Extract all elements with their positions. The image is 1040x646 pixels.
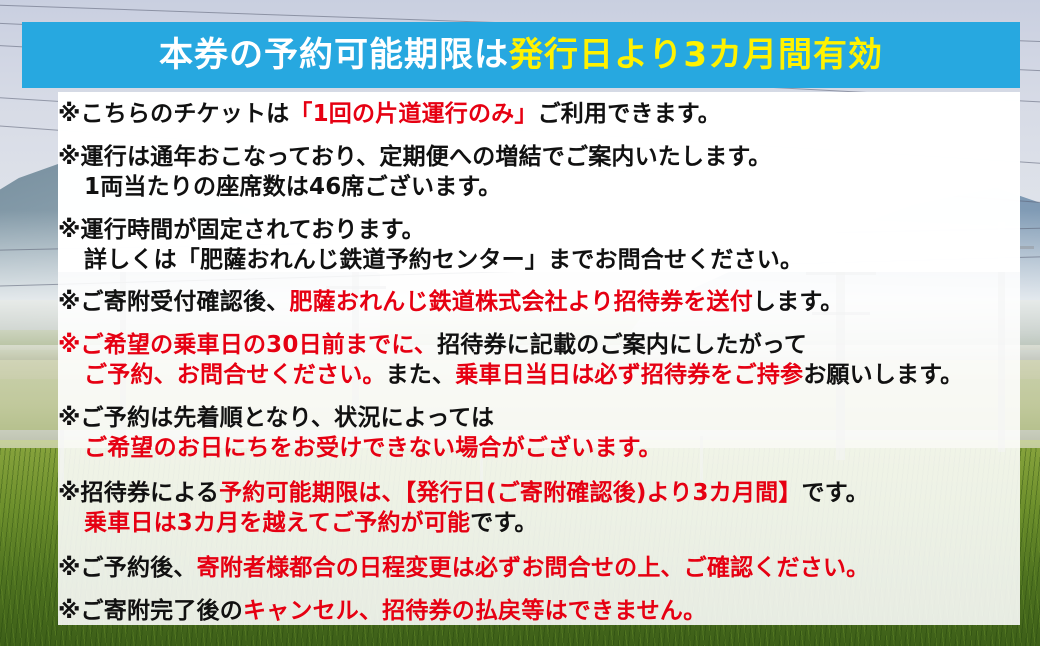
note-2-l2-seg1-black: 1両当たりの座席数は46席ございます。	[84, 174, 502, 200]
note-spacer	[58, 130, 1020, 143]
note-spacer	[58, 584, 1020, 597]
promo-notice-card: 本券の予約可能期限は発行日より3カ月間有効 ※こちらのチケットは「1回の片道運行…	[0, 0, 1040, 646]
note-1-l1-seg3-black: ご利用できます。	[538, 101, 721, 127]
headline-text: 本券の予約可能期限は発行日より3カ月間有効	[159, 38, 883, 72]
note-3-l1-seg1-black: ※運行時間が固定されております。	[58, 217, 425, 243]
note-spacer	[58, 539, 1020, 554]
note-5-l2-seg3-red: 乗車日当日は必ず招待券をご持参	[455, 362, 803, 388]
note-2-line-1: ※運行は通年おこなっており、定期便への増結でご案内いたします。	[58, 143, 1020, 173]
note-8-line-1: ※ご予約後、寄附者様都合の日程変更は必ずお問合せの上、ご確認ください。	[58, 554, 1020, 584]
note-5-l1-seg1-red: ※ご希望の乗車日の30日前までに、	[58, 332, 437, 358]
note-2-line-2: 1両当たりの座席数は46席ございます。	[58, 173, 1020, 203]
note-9-l1-seg2-red: キャンセル、招待券の払戻等はできません。	[243, 598, 706, 624]
headline-yellow-part: 発行日より3カ月間有効	[509, 35, 883, 75]
note-spacer	[58, 391, 1020, 404]
note-7-line-1: ※招待券による予約可能期限は、【発行日(ご寄附確認後)より3カ月間】です。	[58, 479, 1020, 509]
note-1-line-1: ※こちらのチケットは「1回の片道運行のみ」ご利用できます。	[58, 100, 1020, 130]
note-5-l2-seg2-black: また、	[386, 362, 456, 388]
note-8-l1-seg1-black: ※ご予約後、	[58, 555, 197, 581]
note-7-l2-seg1-red: 乗車日は3カ月を越えてご予約が可能	[84, 510, 470, 536]
note-5-line-2: ご予約、お問合せください。また、乗車日当日は必ず招待券をご持参お願いします。	[58, 361, 1020, 391]
note-6-line-2: ご希望のお日にちをお受けできない場合がございます。	[58, 434, 1020, 464]
note-4-l1-seg2-red: 肥薩おれんじ鉄道株式会社より招待券を送付	[289, 289, 753, 315]
note-4-l1-seg1-black: ※ご寄附受付確認後、	[58, 289, 289, 315]
note-5-l1-seg2-black: 招待券に記載のご案内にしたがって	[437, 332, 807, 358]
note-7-l2-seg2-black: です。	[470, 510, 537, 536]
note-spacer	[58, 203, 1020, 216]
note-5-l2-seg4-black: お願いします。	[803, 362, 963, 388]
notes-list: ※こちらのチケットは「1回の片道運行のみ」ご利用できます。※運行は通年おこなって…	[58, 100, 1020, 626]
note-1-l1-seg2-red: 「1回の片道運行のみ」	[289, 101, 537, 127]
note-8-l1-seg2-red: 寄附者様都合の日程変更は必ずお問合せの上、ご確認ください。	[197, 555, 870, 581]
note-5-line-1: ※ご希望の乗車日の30日前までに、招待券に記載のご案内にしたがって	[58, 331, 1020, 361]
note-3-l2-seg1-black: 詳しくは「肥薩おれんじ鉄道予約センター」までお問合せください。	[84, 247, 803, 273]
note-7-line-2: 乗車日は3カ月を越えてご予約が可能です。	[58, 509, 1020, 539]
note-7-l1-seg3-black: です。	[802, 480, 869, 506]
note-1-l1-seg1-black: ※こちらのチケットは	[58, 101, 289, 127]
note-spacer	[58, 275, 1020, 288]
headline-banner: 本券の予約可能期限は発行日より3カ月間有効	[22, 22, 1020, 88]
note-4-l1-seg3-black: します。	[753, 289, 844, 315]
note-7-l1-seg1-black: ※招待券による	[58, 480, 219, 506]
note-6-line-1: ※ご予約は先着順となり、状況によっては	[58, 404, 1020, 434]
note-9-line-1: ※ご寄附完了後のキャンセル、招待券の払戻等はできません。	[58, 597, 1020, 627]
note-spacer	[58, 318, 1020, 331]
note-7-l1-seg2-red: 予約可能期限は、【発行日(ご寄附確認後)より3カ月間】	[219, 480, 801, 506]
note-5-l2-seg1-red: ご予約、お問合せください。	[84, 362, 386, 388]
note-spacer	[58, 464, 1020, 479]
note-3-line-1: ※運行時間が固定されております。	[58, 216, 1020, 246]
note-3-line-2: 詳しくは「肥薩おれんじ鉄道予約センター」までお問合せください。	[58, 246, 1020, 276]
note-6-l1-seg1-black: ※ご予約は先着順となり、状況によっては	[58, 405, 494, 431]
note-2-l1-seg1-black: ※運行は通年おこなっており、定期便への増結でご案内いたします。	[58, 144, 772, 170]
headline-white-part: 本券の予約可能期限は	[159, 35, 509, 75]
note-9-l1-seg1-black: ※ご寄附完了後の	[58, 598, 243, 624]
note-6-l2-seg1-red: ご希望のお日にちをお受けできない場合がございます。	[84, 435, 662, 461]
note-4-line-1: ※ご寄附受付確認後、肥薩おれんじ鉄道株式会社より招待券を送付します。	[58, 288, 1020, 318]
